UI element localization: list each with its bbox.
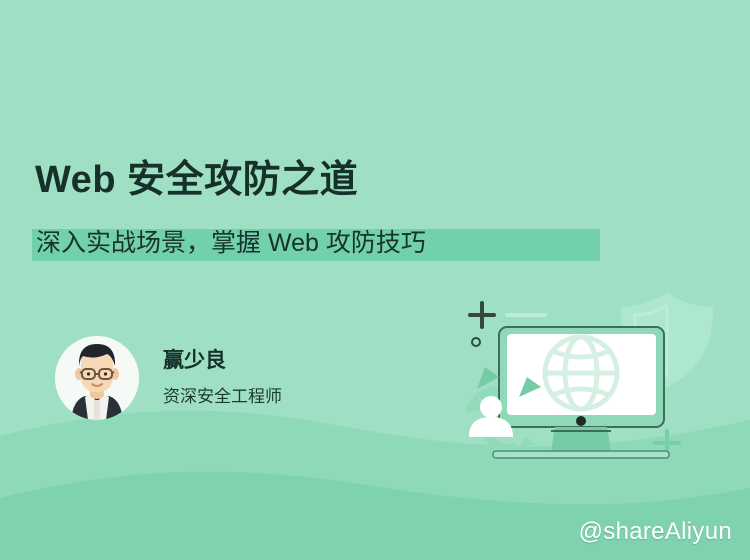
monitor-base — [493, 451, 669, 458]
monitor-camera-dot — [576, 416, 586, 426]
avatar — [55, 336, 139, 420]
presentation-slide: Web 安全攻防之道 深入实战场景，掌握 Web 攻防技巧 — [0, 0, 750, 560]
monitor-globe-illustration — [455, 285, 750, 475]
author-text: 赢少良 资深安全工程师 — [163, 349, 282, 407]
slide-title: Web 安全攻防之道 — [35, 148, 358, 203]
author-role: 资深安全工程师 — [163, 387, 282, 407]
plus-mark-top-left-icon — [470, 303, 494, 327]
avatar-eye-right — [104, 372, 107, 375]
dash-mark — [505, 313, 547, 317]
watermark: @shareAliyun — [579, 518, 732, 546]
small-circle-mark-icon — [472, 338, 480, 346]
author-block: 赢少良 资深安全工程师 — [55, 336, 282, 420]
author-name: 赢少良 — [163, 349, 282, 373]
avatar-eye-left — [87, 372, 90, 375]
wave-lower — [0, 472, 750, 560]
avatar-tie — [94, 400, 100, 420]
monitor-stand-line — [551, 430, 611, 432]
avatar-illustration — [55, 336, 139, 420]
slide-subtitle: 深入实战场景，掌握 Web 攻防技巧 — [36, 226, 426, 260]
